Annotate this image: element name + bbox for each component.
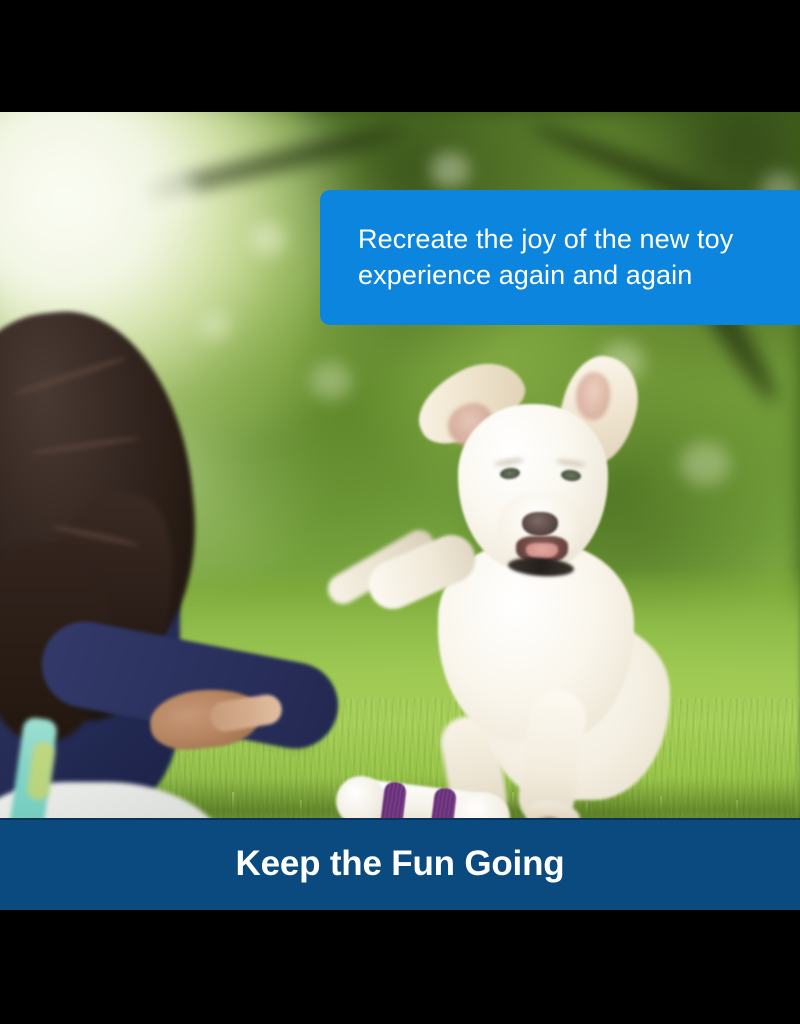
dog-nose: [522, 512, 558, 536]
running-dog: [330, 360, 670, 818]
letterbox-bar-bottom: [0, 910, 800, 1024]
letterbox-bar-top: [0, 0, 800, 112]
bokeh-highlight: [150, 172, 196, 214]
screenshot-canvas: Recreate the joy of the new toy experien…: [0, 0, 800, 1024]
bokeh-highlight: [430, 152, 470, 188]
dog-tongue: [526, 543, 558, 559]
banner-divider: [0, 818, 800, 820]
bokeh-highlight: [250, 222, 286, 256]
bottom-banner: Keep the Fun Going: [0, 818, 800, 910]
toy-knob-left: [336, 776, 386, 818]
caption-text: Recreate the joy of the new toy experien…: [320, 222, 800, 294]
dog-toy-bone: [336, 760, 516, 818]
bokeh-highlight: [680, 442, 730, 486]
banner-title: Keep the Fun Going: [236, 844, 565, 884]
caption-callout: Recreate the joy of the new toy experien…: [320, 190, 800, 325]
